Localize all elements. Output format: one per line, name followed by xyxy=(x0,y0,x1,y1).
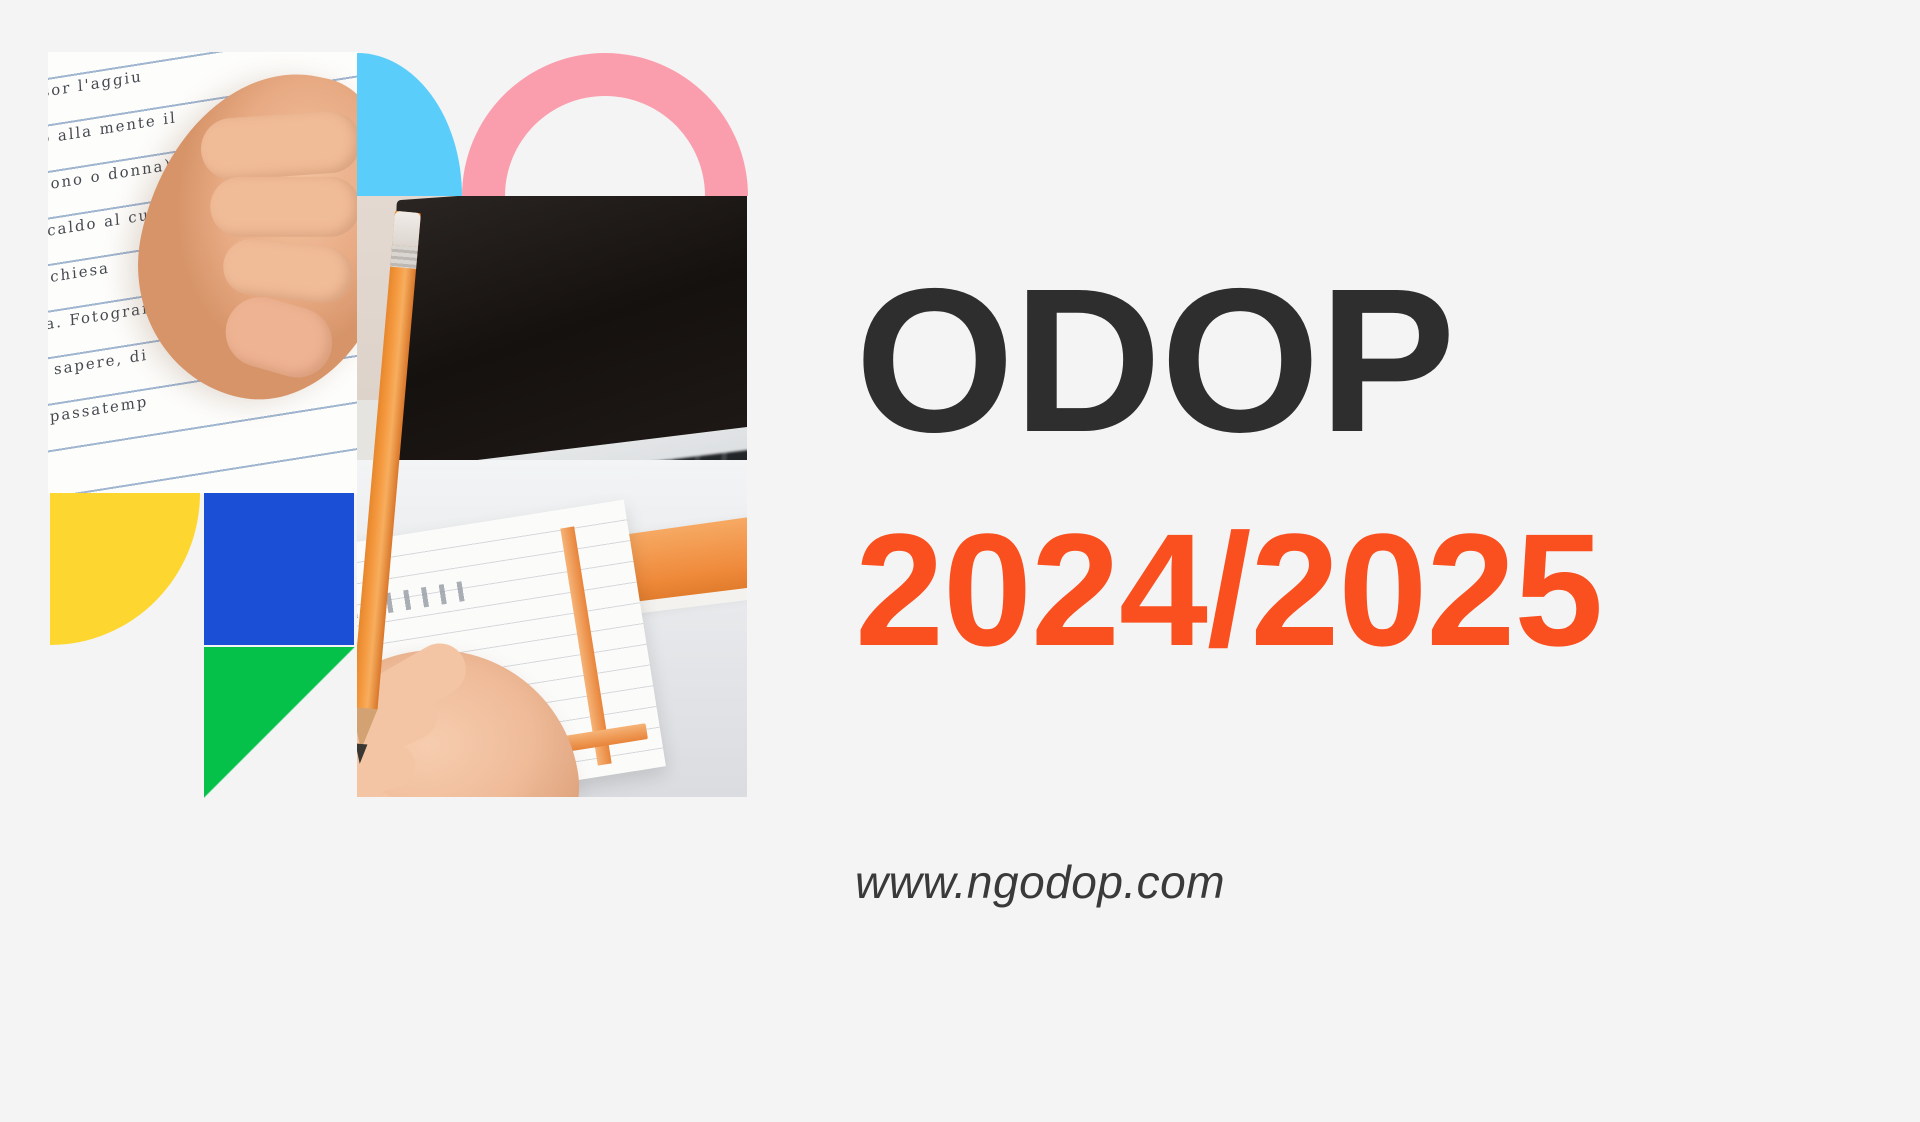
pencil-ferrule xyxy=(390,245,418,269)
pencil-lead xyxy=(357,743,367,764)
finger xyxy=(220,236,355,305)
collage: npara sor l'aggiu tizzano alla mente il … xyxy=(0,0,800,860)
desk-photo xyxy=(357,196,747,797)
poster-canvas: npara sor l'aggiu tizzano alla mente il … xyxy=(0,0,1920,1122)
pencil-eraser xyxy=(392,211,421,247)
finger xyxy=(210,177,358,237)
thumb xyxy=(217,289,340,386)
year-subtitle: 2024/2025 xyxy=(855,510,1602,670)
green-triangle-shape xyxy=(204,647,355,798)
blue-square-shape xyxy=(204,493,354,645)
page-title: ODOP xyxy=(855,258,1455,463)
finger xyxy=(199,109,358,182)
blue-quarter-circle-shape xyxy=(357,53,462,196)
website-url: www.ngodop.com xyxy=(855,855,1225,909)
text-block: ODOP 2024/2025 www.ngodop.com xyxy=(855,0,1855,1122)
yellow-quarter-circle-shape xyxy=(50,493,200,645)
handwriting-photo: npara sor l'aggiu tizzano alla mente il … xyxy=(48,52,358,494)
pink-arch-shape xyxy=(462,53,748,196)
